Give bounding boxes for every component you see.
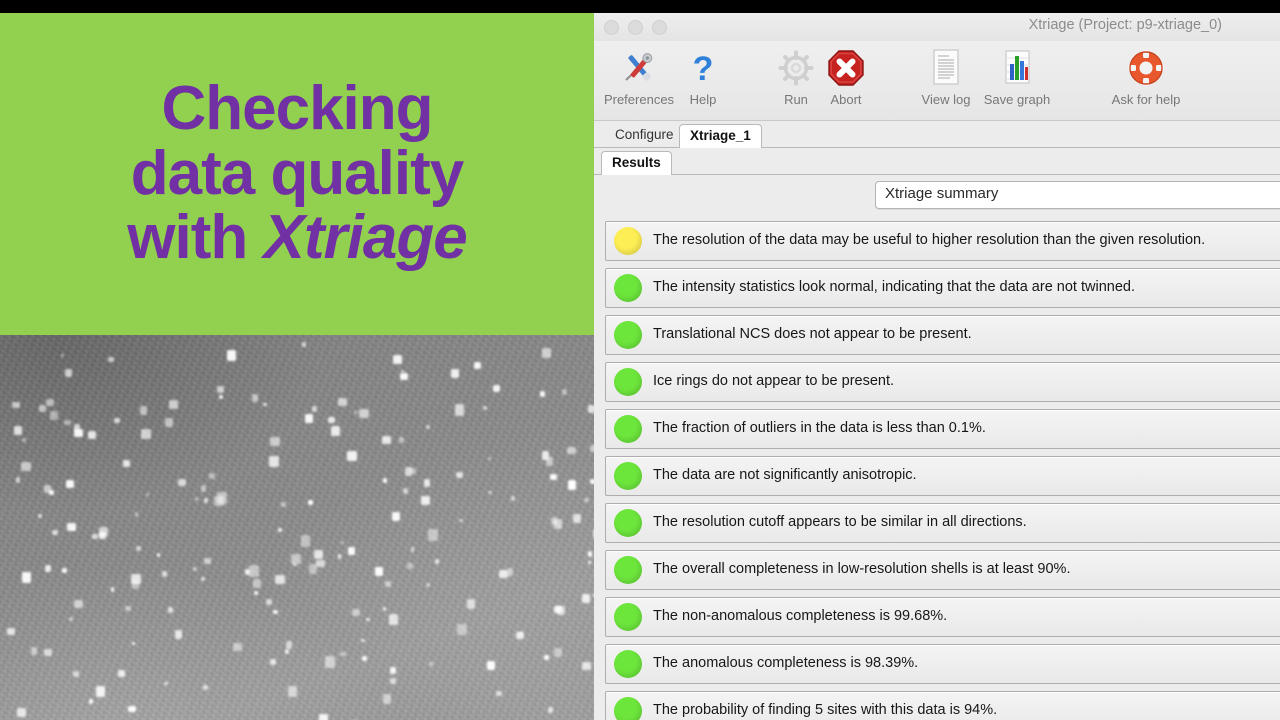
diffraction-spot	[88, 431, 96, 439]
diffraction-spot	[125, 606, 131, 612]
status-dot-ok-icon	[614, 274, 642, 302]
diffraction-spot	[263, 403, 267, 407]
result-row[interactable]: The fraction of outliers in the data is …	[605, 409, 1280, 449]
diffraction-spot	[308, 500, 313, 505]
result-row-text: The overall completeness in low-resoluti…	[653, 561, 1070, 577]
result-row[interactable]: The data are not significantly anisotrop…	[605, 456, 1280, 496]
diffraction-spot	[582, 594, 589, 603]
diffraction-spot	[269, 456, 279, 467]
diffraction-spot	[354, 411, 357, 414]
diffraction-spot	[74, 424, 80, 430]
diffraction-spot	[278, 528, 282, 532]
result-row-text: The resolution of the data may be useful…	[653, 232, 1205, 248]
diffraction-spot	[270, 659, 277, 665]
result-row-text: The probability of finding 5 sites with …	[653, 702, 997, 718]
diffraction-spot	[312, 406, 316, 411]
diffraction-spot	[141, 429, 151, 440]
diffraction-spot	[195, 497, 198, 501]
status-dot-ok-icon	[614, 650, 642, 678]
diffraction-spot	[474, 362, 481, 369]
diffraction-spot	[31, 647, 37, 655]
diffraction-spot	[217, 386, 224, 393]
diffraction-spot	[66, 480, 74, 488]
result-row[interactable]: The intensity statistics look normal, in…	[605, 268, 1280, 308]
diffraction-spot	[132, 581, 139, 589]
diffraction-spot	[457, 624, 467, 634]
diffraction-spot	[169, 400, 178, 408]
diffraction-spot	[557, 606, 565, 616]
diffraction-spot	[573, 514, 581, 522]
diffraction-spot	[204, 498, 208, 503]
diffraction-spot	[175, 630, 182, 639]
result-row[interactable]: Translational NCS does not appear to be …	[605, 315, 1280, 355]
slide-pane: Checking data quality with Xtriage	[0, 13, 594, 720]
diffraction-spot	[542, 348, 551, 357]
diffraction-spot	[123, 460, 130, 467]
status-dot-ok-icon	[614, 603, 642, 631]
results-list: The resolution of the data may be useful…	[594, 215, 1280, 720]
diffraction-spot	[302, 342, 306, 347]
diffraction-spot	[22, 438, 26, 442]
diffraction-spot	[249, 565, 258, 576]
diffraction-spot	[568, 480, 577, 489]
diffraction-spot	[383, 694, 391, 704]
diffraction-spot	[399, 437, 404, 442]
result-row-text: The non-anomalous completeness is 99.68%…	[653, 608, 947, 624]
window-title: Xtriage (Project: p9-xtriage_0)	[594, 17, 1222, 33]
result-row-text: Translational NCS does not appear to be …	[653, 326, 972, 342]
diffraction-spot	[359, 409, 369, 418]
result-row[interactable]: The overall completeness in low-resoluti…	[605, 550, 1280, 590]
diffraction-spot	[203, 685, 208, 690]
xtriage-summary-select[interactable]: Xtriage summary	[875, 181, 1280, 209]
diffraction-spot	[305, 414, 313, 423]
diffraction-spot	[550, 474, 557, 480]
diffraction-spot	[168, 607, 173, 613]
diffraction-spot	[64, 420, 71, 426]
diffraction-spot	[390, 667, 397, 674]
diffraction-spot	[281, 502, 286, 507]
slide-title-line-1: Checking	[161, 77, 432, 141]
diffraction-spot	[162, 571, 167, 577]
diffraction-spot	[366, 618, 370, 621]
diffraction-spot	[582, 662, 591, 670]
status-dot-ok-icon	[614, 697, 642, 720]
diffraction-spot	[44, 649, 52, 656]
diffraction-spot	[540, 391, 545, 397]
xtriage-window: Xtriage (Project: p9-xtriage_0)	[594, 13, 1280, 720]
svg-text:?: ?	[693, 50, 714, 87]
diffraction-spot	[62, 568, 67, 572]
diffraction-spot	[273, 610, 278, 614]
diffraction-spot	[392, 512, 399, 521]
toolbar-button-help[interactable]: ? Help	[664, 46, 742, 107]
status-dot-ok-icon	[614, 509, 642, 537]
diffraction-spot	[17, 708, 26, 717]
screenshot-root: Checking data quality with Xtriage Xtria…	[0, 0, 1280, 720]
diffraction-spot	[52, 530, 58, 535]
diffraction-spot	[456, 472, 463, 477]
diffraction-spot	[128, 706, 136, 713]
diffraction-spot	[99, 532, 106, 539]
diffraction-spot	[314, 550, 323, 560]
diffraction-spot	[385, 581, 391, 588]
result-row[interactable]: The non-anomalous completeness is 99.68%…	[605, 597, 1280, 637]
diffraction-spot	[275, 575, 285, 584]
diffraction-spot	[233, 643, 242, 651]
secondary-tabstrip: Results	[594, 148, 1280, 175]
diffraction-spot	[548, 707, 553, 713]
toolbar-label-help: Help	[664, 92, 742, 107]
diffraction-spot	[428, 529, 438, 541]
tab-xtriage-1[interactable]: Xtriage_1	[679, 124, 762, 149]
diffraction-spot	[382, 436, 391, 444]
status-dot-ok-icon	[614, 462, 642, 490]
diffraction-spot	[511, 496, 515, 500]
xtriage-summary-select-value: Xtriage summary	[885, 185, 998, 202]
diffraction-spot	[316, 560, 325, 567]
diffraction-spot	[270, 437, 280, 446]
slide-title-emphasis: Xtriage	[264, 203, 467, 272]
primary-tabstrip: Configure Xtriage_1	[594, 121, 1280, 148]
diffraction-spot	[74, 600, 83, 608]
diffraction-spot	[362, 656, 367, 661]
diffraction-spot	[140, 406, 148, 416]
diffraction-spot	[165, 418, 174, 426]
result-row-text: The anomalous completeness is 98.39%.	[653, 655, 918, 671]
result-row-text: The resolution cutoff appears to be simi…	[653, 514, 1027, 530]
toolbar-label-view-log: View log	[907, 92, 985, 107]
diffraction-spot	[393, 355, 402, 364]
diffraction-spot	[487, 661, 494, 671]
diffraction-spot	[435, 559, 440, 564]
diffraction-spot	[201, 485, 207, 492]
letterbox-bar-top	[0, 0, 1280, 13]
diffraction-spot	[331, 426, 339, 436]
diffraction-spot	[22, 572, 32, 584]
status-dot-ok-icon	[614, 321, 642, 349]
diffraction-spot	[496, 691, 502, 696]
result-row[interactable]: Ice rings do not appear to be present.	[605, 362, 1280, 402]
diffraction-spot	[348, 547, 355, 555]
diffraction-spot	[254, 591, 258, 595]
diffraction-spot	[383, 478, 387, 482]
diffraction-spot	[340, 652, 345, 656]
toolbar-label-save-graph: Save graph	[978, 92, 1056, 107]
diffraction-spot	[390, 678, 396, 684]
diffraction-spot	[89, 699, 93, 704]
toolbar-button-view-log[interactable]: View log	[907, 46, 985, 107]
diffraction-spot	[293, 563, 296, 566]
status-dot-ok-icon	[614, 368, 642, 396]
diffraction-spot	[338, 554, 342, 559]
diffraction-spot	[12, 402, 20, 408]
diffraction-spot	[325, 656, 335, 668]
diffraction-spot	[111, 587, 115, 591]
diffraction-spot	[45, 565, 51, 572]
result-row-text: The data are not significantly anisotrop…	[653, 467, 917, 483]
toolbar-button-abort[interactable]: Abort	[807, 46, 885, 107]
slide-title-line-3: with Xtriage	[127, 206, 466, 270]
diffraction-spot	[217, 492, 227, 504]
toolbar-button-ask-for-help[interactable]: Ask for help	[1107, 46, 1185, 107]
diffraction-spot	[209, 473, 215, 480]
diffraction-spot	[136, 546, 141, 552]
diffraction-spot	[554, 648, 562, 657]
diffraction-spot	[375, 567, 383, 576]
toolbar-label-abort: Abort	[807, 92, 885, 107]
bar-chart-icon	[978, 46, 1056, 90]
toolbar: Preferences ? Help	[594, 41, 1280, 121]
diffraction-spot	[21, 462, 31, 471]
status-dot-ok-icon	[614, 556, 642, 584]
diffraction-spot	[328, 417, 335, 423]
toolbar-button-save-graph[interactable]: Save graph	[978, 46, 1056, 107]
tab-results[interactable]: Results	[601, 151, 672, 176]
question-mark-icon: ?	[664, 46, 742, 90]
status-dot-warning-icon	[614, 227, 642, 255]
diffraction-spot	[389, 614, 398, 625]
diffraction-spot	[400, 373, 408, 380]
diffraction-image	[0, 335, 594, 720]
diffraction-spot	[69, 617, 73, 621]
diffraction-spot	[567, 447, 575, 454]
slide-title-card: Checking data quality with Xtriage	[0, 13, 594, 335]
document-icon	[907, 46, 985, 90]
result-row[interactable]: The resolution cutoff appears to be simi…	[605, 503, 1280, 543]
diffraction-spot	[301, 535, 310, 547]
diffraction-spot	[92, 534, 98, 539]
diffraction-spot	[407, 563, 413, 569]
diffraction-spot	[204, 558, 211, 564]
result-row-text: The intensity statistics look normal, in…	[653, 279, 1135, 295]
diffraction-spot	[288, 686, 297, 698]
diffraction-spot	[50, 411, 58, 420]
diffraction-noise	[0, 335, 594, 720]
diffraction-spot	[426, 583, 430, 587]
diffraction-spot	[421, 496, 430, 505]
slide-title-line-2: data quality	[131, 142, 464, 206]
diffraction-spot	[46, 399, 54, 406]
diffraction-spot	[39, 405, 46, 412]
diffraction-spot	[164, 682, 167, 685]
stop-octagon-icon	[807, 46, 885, 90]
diffraction-spot	[73, 671, 79, 677]
diffraction-spot	[7, 628, 15, 636]
diffraction-spot	[519, 632, 522, 635]
diffraction-spot	[352, 609, 360, 616]
diffraction-spot	[135, 512, 139, 516]
diffraction-spot	[252, 394, 258, 401]
result-row-text: The fraction of outliers in the data is …	[653, 420, 986, 436]
diffraction-spot	[542, 451, 549, 460]
toolbar-label-ask-for-help: Ask for help	[1107, 92, 1185, 107]
diffraction-spot	[411, 547, 415, 551]
diffraction-spot	[584, 498, 588, 502]
diffraction-spot	[38, 514, 42, 517]
status-dot-ok-icon	[614, 415, 642, 443]
diffraction-spot	[118, 670, 124, 677]
diffraction-spot	[96, 686, 104, 697]
diffraction-spot	[424, 479, 431, 487]
diffraction-spot	[227, 350, 236, 360]
window-titlebar: Xtriage (Project: p9-xtriage_0)	[594, 13, 1280, 41]
diffraction-spot	[286, 641, 292, 649]
diffraction-spot	[451, 369, 459, 378]
diffraction-spot	[554, 519, 562, 529]
result-row[interactable]: The resolution of the data may be useful…	[605, 221, 1280, 261]
diffraction-spot	[201, 577, 205, 581]
slide-title-line-3-text: with	[127, 203, 263, 272]
result-row[interactable]: The probability of finding 5 sites with …	[605, 691, 1280, 720]
diffraction-spot	[178, 479, 185, 486]
result-row[interactable]: The anomalous completeness is 98.39%.	[605, 644, 1280, 684]
diffraction-spot	[544, 655, 549, 660]
diffraction-spot	[361, 639, 365, 642]
diffraction-spot	[493, 385, 500, 392]
chooser-row: Xtriage summary	[594, 175, 1280, 215]
diffraction-spot	[455, 404, 464, 416]
diffraction-spot	[347, 451, 357, 461]
tab-configure[interactable]: Configure	[605, 124, 684, 147]
diffraction-spot	[467, 599, 475, 609]
diffraction-spot	[405, 467, 412, 476]
life-ring-icon	[1107, 46, 1185, 90]
diffraction-spot	[65, 369, 72, 377]
diffraction-spot	[266, 599, 272, 605]
diffraction-spot	[338, 398, 347, 406]
diffraction-spot	[507, 568, 513, 576]
diffraction-spot	[562, 389, 567, 395]
diffraction-spot	[14, 426, 23, 435]
result-row-text: Ice rings do not appear to be present.	[653, 373, 894, 389]
diffraction-spot	[319, 714, 328, 720]
diffraction-spot	[253, 579, 261, 589]
